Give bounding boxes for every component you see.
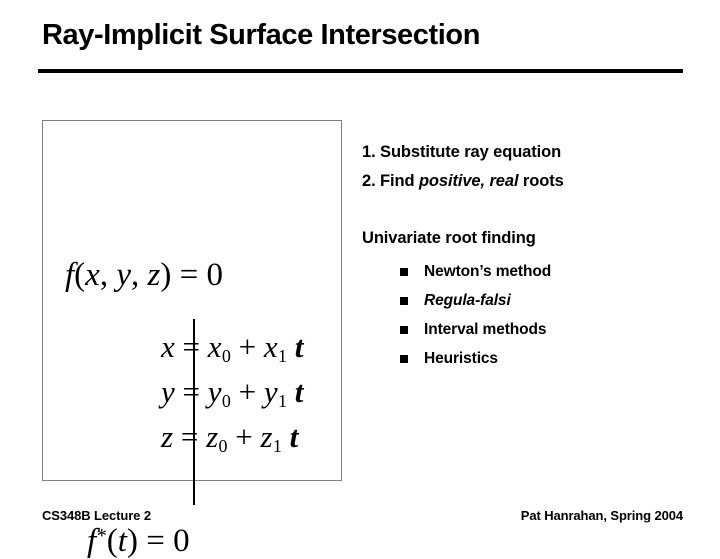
equation-implicit-zero: 0 <box>206 257 223 293</box>
title-divider <box>38 69 683 73</box>
equation-ray-y-direction: y <box>264 374 278 409</box>
equation-implicit-open-paren: ( <box>74 257 85 293</box>
equation-ray-z-space <box>282 419 290 454</box>
step-item-2: 2. Find positive, real roots <box>362 172 692 191</box>
step-2-emphasis: positive, real <box>419 172 518 190</box>
equation-implicit-z: z <box>147 257 160 293</box>
footer-author-label: Pat Hanrahan, Spring 2004 <box>521 508 683 523</box>
equation-ray-x-direction: x <box>264 329 278 364</box>
step-1-text: Substitute ray equation <box>376 143 562 161</box>
equation-ray-x-parameter: t <box>295 329 304 364</box>
equation-ray-z: z = z0 + z1 t <box>161 421 298 452</box>
equation-univariate-zero: 0 <box>173 523 190 559</box>
step-2-number: 2. <box>362 172 376 190</box>
footer-course-label: CS348B Lecture 2 <box>42 508 151 523</box>
equation-ray-y-equals: = <box>175 374 208 409</box>
list-item: Heuristics <box>362 344 692 373</box>
list-item: Interval methods <box>362 315 692 344</box>
bullet-square-icon <box>400 355 408 363</box>
equation-ray-x-var: x <box>161 329 175 364</box>
equation-ray-x-equals: = <box>175 329 208 364</box>
equation-ray-y: y = y0 + y1 t <box>161 376 303 407</box>
equation-implicit-comma-1: , <box>100 257 117 293</box>
equation-ray-y-var: y <box>161 374 175 409</box>
equation-ray-z-direction-subscript: 1 <box>273 436 282 456</box>
equation-univariate-star: * <box>97 525 107 547</box>
method-list: Newton’s method Regula-falsi Interval me… <box>362 257 692 373</box>
equation-ray-z-var: z <box>161 419 173 454</box>
equation-implicit-surface: f(x, y, z) = 0 <box>65 259 223 292</box>
equation-ray-y-space <box>287 374 295 409</box>
bullet-square-icon <box>400 297 408 305</box>
equation-ray-z-direction: z <box>260 419 272 454</box>
equation-ray-x: x = x0 + x1 t <box>161 331 303 362</box>
equation-ray-y-parameter: t <box>295 374 304 409</box>
equation-ray-x-origin: x <box>208 329 222 364</box>
equation-ray-y-plus: + <box>231 374 264 409</box>
equation-implicit-f: f <box>65 257 74 293</box>
bullet-square-icon <box>400 268 408 276</box>
equation-ray-y-direction-subscript: 1 <box>278 391 287 411</box>
bullet-square-icon <box>400 326 408 334</box>
equation-univariate-f: f <box>87 523 96 559</box>
equation-box: f(x, y, z) = 0 x = x0 + x1 t y = y0 + y1… <box>42 120 342 481</box>
equation-ray-y-origin-subscript: 0 <box>222 391 231 411</box>
equation-univariate-t: t <box>118 523 127 559</box>
equation-ray-z-origin-subscript: 0 <box>219 436 228 456</box>
equation-univariate-equals: = <box>138 523 173 559</box>
equation-ray-y-origin: y <box>208 374 222 409</box>
equation-univariate: f*(t) = 0 <box>87 525 190 558</box>
step-1-number: 1. <box>362 143 376 161</box>
equation-ray-x-origin-subscript: 0 <box>222 346 231 366</box>
equation-ray-x-space <box>287 329 295 364</box>
equation-implicit-comma-2: , <box>131 257 148 293</box>
method-label: Regula-falsi <box>424 292 511 310</box>
page-title: Ray-Implicit Surface Intersection <box>42 19 480 52</box>
equation-implicit-equals: = <box>171 257 206 293</box>
equation-ray-x-plus: + <box>231 329 264 364</box>
root-finding-heading: Univariate root finding <box>362 229 692 248</box>
equation-ray-z-parameter: t <box>290 419 299 454</box>
step-2-text-after: roots <box>518 172 563 190</box>
method-label: Newton’s method <box>424 263 551 281</box>
method-label: Interval methods <box>424 321 546 339</box>
equation-ray-z-equals: = <box>173 419 206 454</box>
equation-ray-x-direction-subscript: 1 <box>278 346 287 366</box>
equation-ray-z-origin: z <box>206 419 218 454</box>
list-item: Newton’s method <box>362 257 692 286</box>
equation-univariate-close-paren: ) <box>127 523 138 559</box>
equation-univariate-open-paren: ( <box>107 523 118 559</box>
method-label: Heuristics <box>424 350 498 368</box>
step-item-1: 1. Substitute ray equation <box>362 143 692 162</box>
equation-implicit-x: x <box>85 257 100 293</box>
content-panel: 1. Substitute ray equation 2. Find posit… <box>362 143 692 373</box>
list-item: Regula-falsi <box>362 286 692 315</box>
equation-ray-z-plus: + <box>227 419 260 454</box>
equation-implicit-y: y <box>116 257 131 293</box>
step-2-text-before: Find <box>376 172 419 190</box>
equation-implicit-close-paren: ) <box>160 257 171 293</box>
